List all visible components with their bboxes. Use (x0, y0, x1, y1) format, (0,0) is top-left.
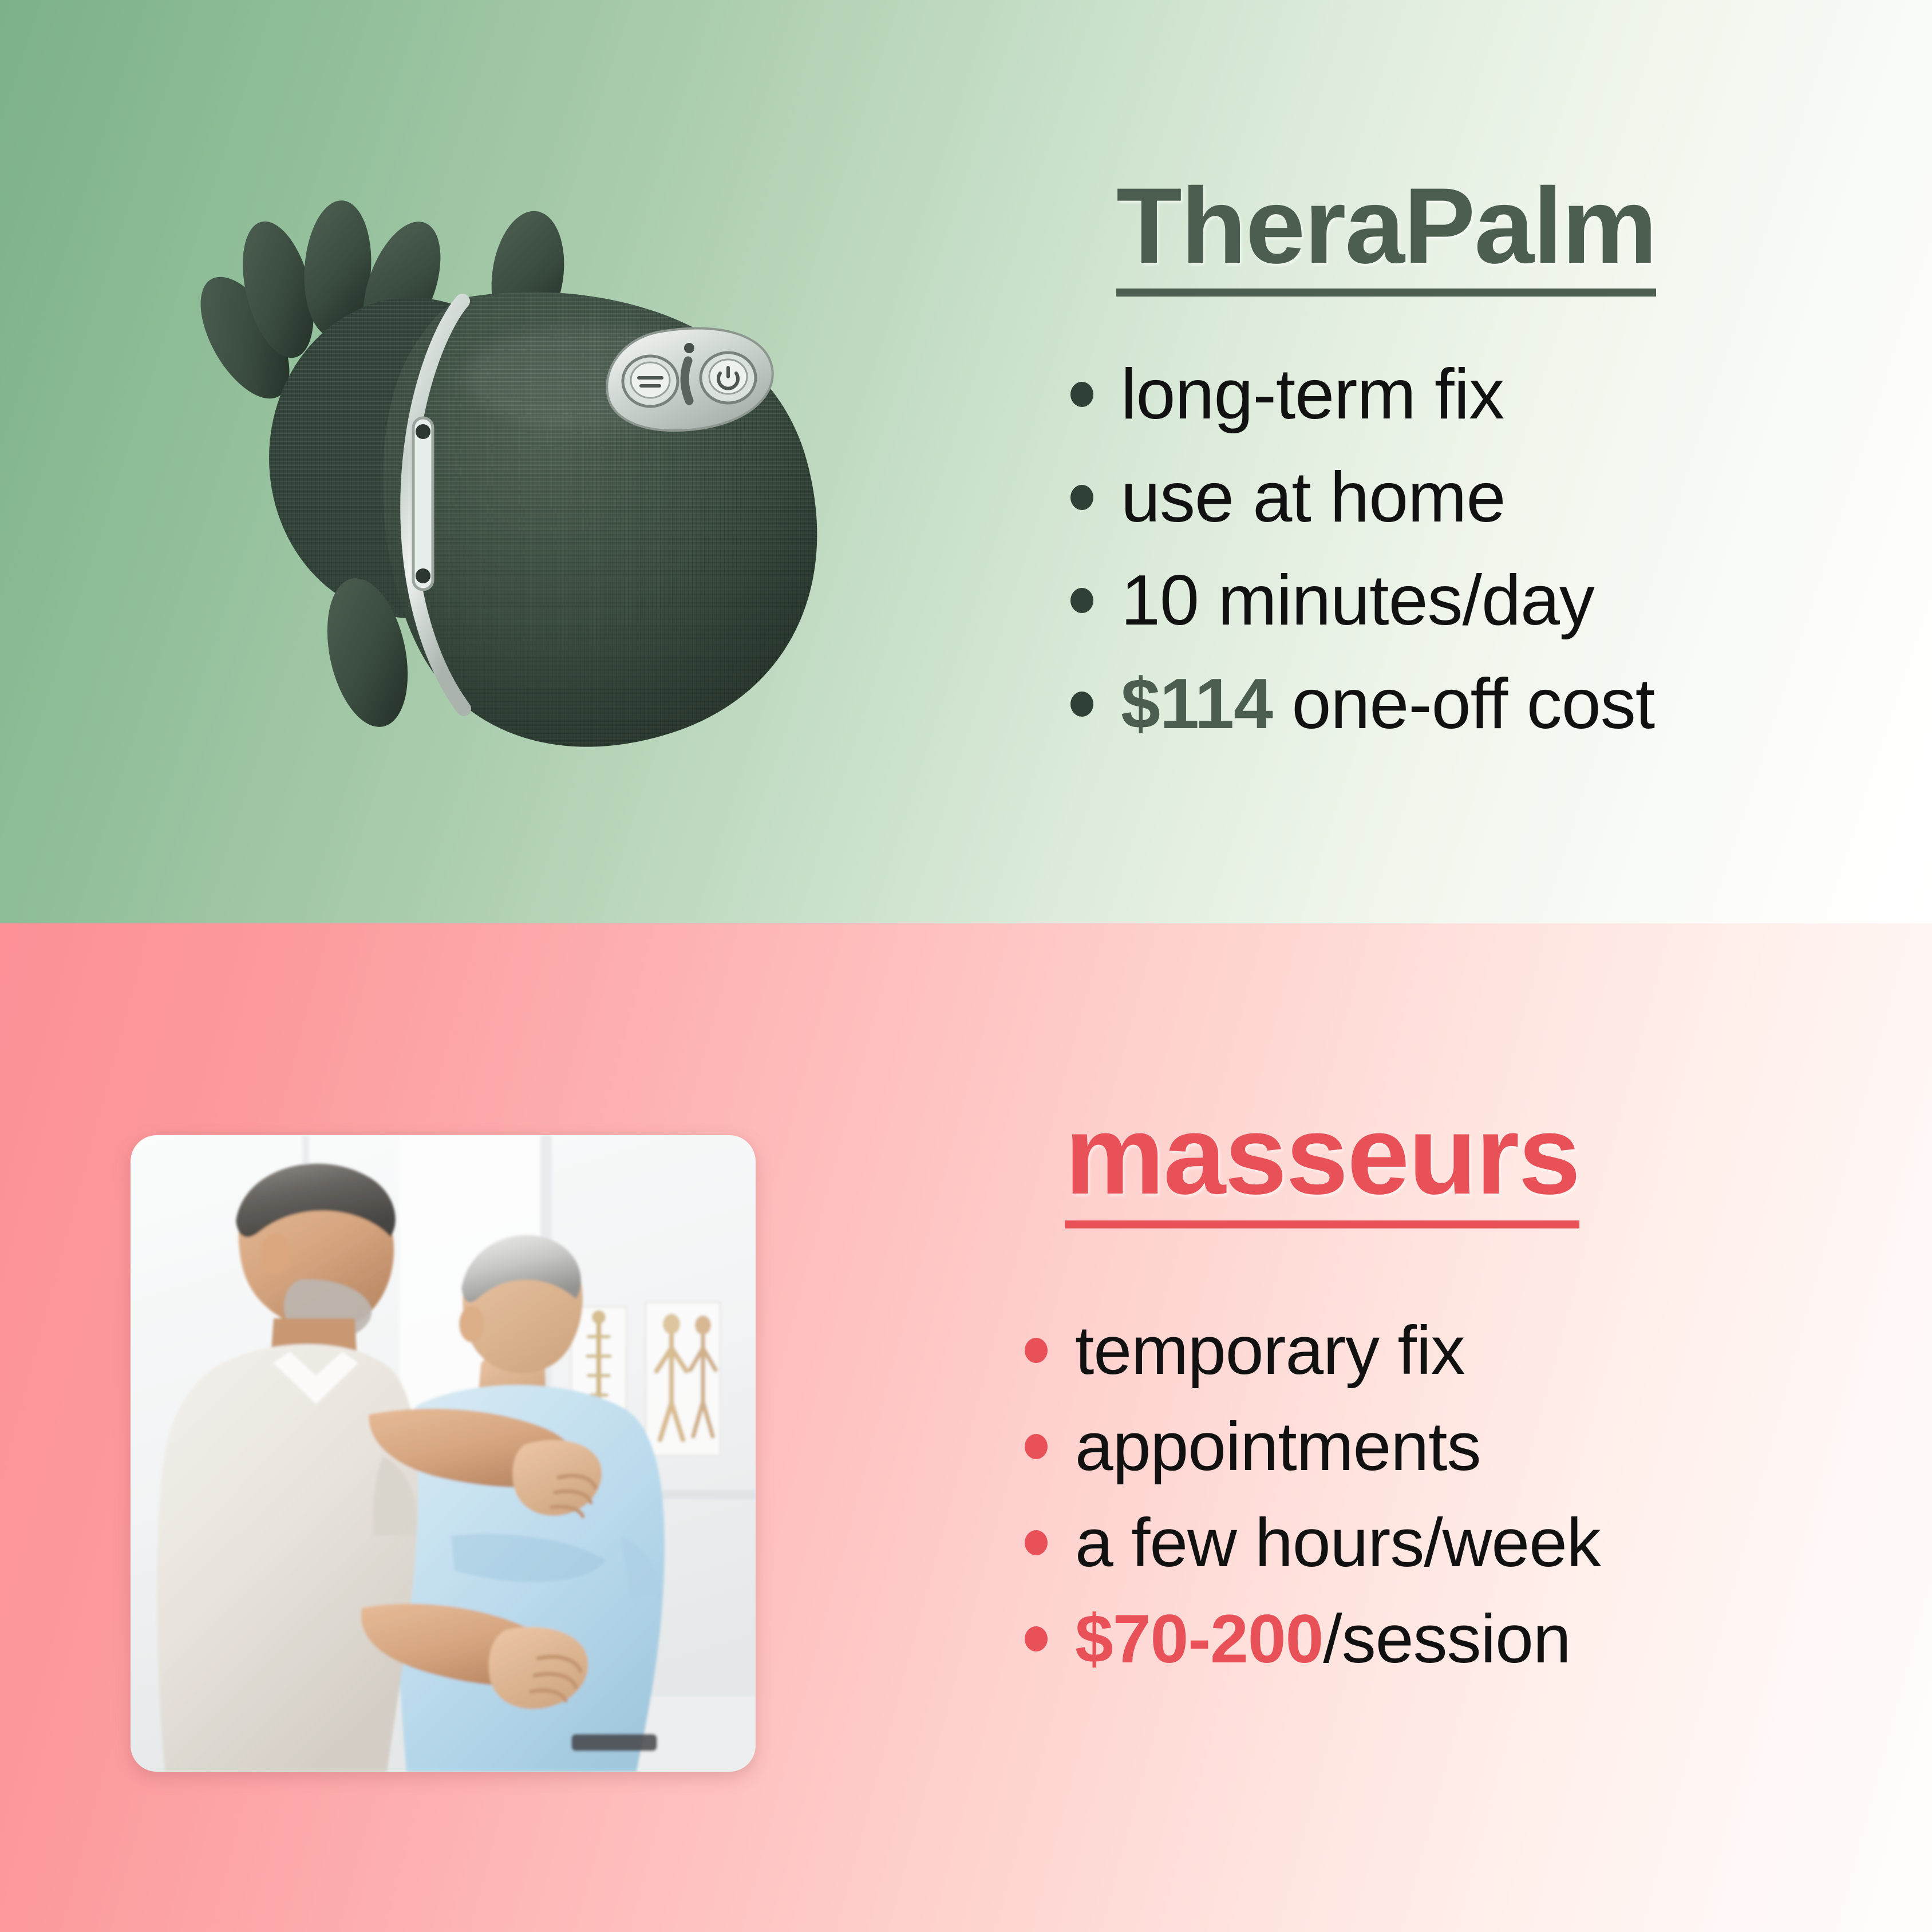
power-button (701, 353, 756, 403)
therapy-photo (131, 1135, 756, 1772)
list-item: temporary fix (1025, 1314, 1872, 1386)
bullet-label: temporary fix (1075, 1314, 1465, 1386)
bullet-dot-icon (1070, 588, 1093, 613)
bullet-label-price: $70-200/session (1075, 1603, 1571, 1675)
masseurs-text-column: masseurs temporary fix appointments a fe… (1025, 1099, 1872, 1699)
therapalm-panel: TheraPalm long-term fix use at home 10 m… (0, 0, 1932, 923)
bullet-dot-icon (1025, 1434, 1048, 1459)
bullet-dot-icon (1025, 1530, 1048, 1555)
bullet-dot-icon (1070, 485, 1093, 510)
price-accent: $70-200 (1075, 1601, 1323, 1677)
bullet-label-price: $114 one-off cost (1121, 667, 1654, 741)
list-item: appointments (1025, 1411, 1872, 1483)
therapalm-bullet-list: long-term fix use at home 10 minutes/day… (1070, 357, 1872, 741)
bullet-dot-icon (1025, 1338, 1048, 1363)
bullet-label: use at home (1121, 460, 1505, 535)
bullet-label: a few hours/week (1075, 1507, 1601, 1579)
list-item: 10 minutes/day (1070, 563, 1872, 638)
list-item: use at home (1070, 460, 1872, 535)
bullet-dot-icon (1070, 382, 1093, 407)
list-item: $70-200/session (1025, 1603, 1872, 1675)
list-item: $114 one-off cost (1070, 667, 1872, 741)
bullet-label: 10 minutes/day (1121, 563, 1594, 638)
speed-button (623, 356, 678, 406)
list-item: long-term fix (1070, 357, 1872, 432)
price-suffix: one-off cost (1273, 665, 1654, 744)
comparison-poster: TheraPalm long-term fix use at home 10 m… (0, 0, 1932, 1932)
therapalm-text-column: TheraPalm long-term fix use at home 10 m… (1070, 172, 1872, 770)
bullet-dot-icon (1070, 692, 1093, 717)
masseurs-headline: masseurs (1065, 1099, 1579, 1228)
list-item: a few hours/week (1025, 1507, 1872, 1579)
therapalm-headline: TheraPalm (1116, 172, 1656, 297)
bullet-label: appointments (1075, 1411, 1480, 1483)
price-suffix: /session (1323, 1601, 1570, 1677)
bullet-label: long-term fix (1121, 357, 1504, 432)
price-accent: $114 (1121, 665, 1273, 744)
masseurs-bullet-list: temporary fix appointments a few hours/w… (1025, 1314, 1872, 1675)
bullet-dot-icon (1025, 1626, 1048, 1652)
product-image (143, 189, 859, 836)
